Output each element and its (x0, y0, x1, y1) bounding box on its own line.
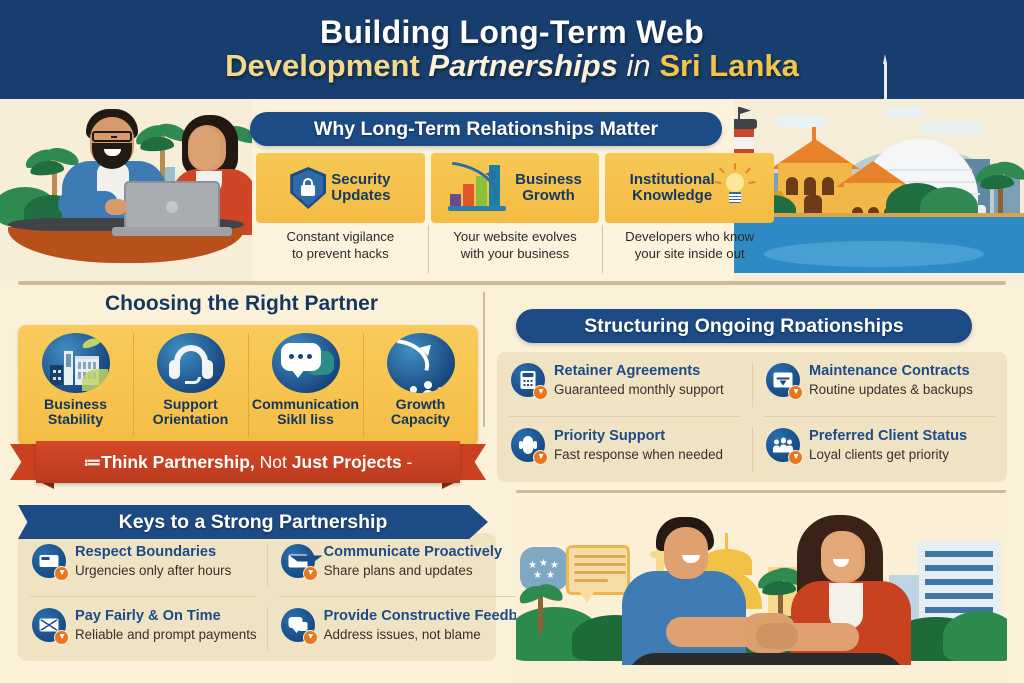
chat-icon (281, 608, 315, 642)
why-card-title-line2: Knowledge (630, 188, 715, 204)
why-card-caption-line1: Your website evolves (428, 229, 603, 246)
infographic-canvas: Building Long-Term Web Development Partn… (0, 0, 1024, 683)
keys-item-subtitle: Reliable and prompt payments (75, 627, 257, 643)
section-heading-structuring-ongoing-relationships: Structuring Ongoing Rɒationships (516, 309, 972, 343)
card-x-icon (32, 608, 66, 642)
keys-item-title: Respect Boundaries (75, 545, 231, 561)
section-heading-keys-to-strong-partnership: Keys to a Strong Partnership (18, 505, 488, 539)
choosing-item-label-line2: Stability (44, 413, 107, 428)
why-card-caption-line2: your site inside out (602, 246, 777, 263)
why-card-caption-line1: Constant vigilance (253, 229, 428, 246)
keys-item-title: Pay Fairly & On Time (75, 609, 257, 625)
choosing-item-label-line2: Sikll liss (252, 413, 359, 428)
buildings-icon (42, 333, 110, 393)
headset-icon (511, 428, 545, 462)
structuring-item-title: Retainer Agreements (554, 364, 724, 380)
ribbon-word-partnership: Partnership, (153, 452, 255, 473)
why-card-institutional-knowledge: Institutional Knowledge Developers w (602, 153, 777, 277)
why-card-caption-line2: with your business (428, 246, 603, 263)
calculator-icon (511, 363, 545, 397)
why-card-title-line1: Business (515, 172, 582, 188)
business-handshake-illustration: ★ ★ ★ ★ ★ (516, 497, 1007, 683)
choosing-item-communication-skills: Communication Sikll liss (248, 325, 363, 447)
why-card-security-updates: Security Updates Constant vigilance to p… (253, 153, 428, 277)
shield-lock-icon (290, 167, 326, 209)
choosing-item-growth-capacity: Growth Capacity (363, 325, 478, 447)
choosing-partner-panel: Business Stability Support Orientation (18, 325, 478, 447)
structuring-item-title: Priority Support (554, 429, 723, 445)
keys-item-pay-fairly-on-time: Pay Fairly & On Time Reliable and prompt… (18, 597, 267, 661)
hero-strip: Why Long-Term Relationships Matter Secur… (0, 99, 1024, 281)
why-cards-row: Security Updates Constant vigilance to p… (253, 153, 777, 277)
sri-lanka-landmarks-illustration (734, 99, 1024, 281)
page-title-line2: Development Partnerships in Sri Lanka (225, 49, 799, 83)
keys-item-communicate-proactively: Communicate Proactively Share plans and … (267, 533, 552, 597)
envelope-icon (281, 544, 315, 578)
ribbon-word-think: Think (101, 452, 148, 473)
developer-and-client-at-laptop-illustration (0, 99, 252, 281)
choosing-item-label-line2: Orientation (153, 413, 229, 428)
why-card-caption-line2: to prevent hacks (253, 246, 428, 263)
title-banner: Building Long-Term Web Development Partn… (0, 0, 1024, 99)
ribbon-word-just-projects: Just Projects (292, 452, 402, 473)
keys-item-subtitle: Urgencies only after hours (75, 563, 231, 579)
section-heading-choosing-right-partner: Choosing the Right Partner (105, 292, 378, 316)
keys-item-subtitle: Share plans and updates (324, 563, 502, 579)
keys-item-respect-boundaries: Respect Boundaries Urgencies only after … (18, 533, 267, 597)
why-card-title-line1: Institutional (630, 172, 715, 188)
ribbon-word-not: Not (260, 452, 287, 473)
document-bubble-icon (566, 545, 630, 595)
structuring-item-title: Preferred Client Status (809, 429, 967, 445)
keys-item-provide-constructive-feedback: Provide Constructive Feedback Address is… (267, 597, 552, 661)
keys-item-title: Provide Constructive Feedback (324, 609, 542, 625)
ribbon-suffix: - (407, 452, 413, 473)
lightbulb-icon (720, 168, 750, 208)
choosing-item-label-line1: Support (153, 398, 229, 413)
structuring-panel: Retainer Agreements Guaranteed monthly s… (497, 352, 1007, 482)
keys-item-title: Communicate Proactively (324, 545, 502, 561)
title-word-in: in (627, 48, 651, 83)
structuring-item-retainer-agreements: Retainer Agreements Guaranteed monthly s… (497, 352, 752, 417)
title-word-development: Development (225, 48, 420, 83)
choosing-item-business-stability: Business Stability (18, 325, 133, 447)
stupa-spire-decoration (884, 62, 887, 102)
divider-horizontal-right (516, 490, 1006, 493)
choosing-item-label-line1: Communication (252, 398, 359, 413)
keys-panel: Respect Boundaries Urgencies only after … (18, 533, 496, 661)
people-icon (766, 428, 800, 462)
chat-bubbles-icon (272, 333, 340, 393)
monitor-icon (766, 363, 800, 397)
page-title-line1: Building Long-Term Web (320, 16, 704, 50)
why-card-title-line2: Updates (331, 188, 390, 204)
structuring-item-title: Maintenance Contracts (809, 364, 973, 380)
structuring-item-subtitle: Fast response when needed (554, 447, 723, 463)
structuring-item-subtitle: Loyal clients get priority (809, 447, 967, 463)
think-partnership-ribbon: ≔ Think Partnership, Not Just Projects - (10, 441, 486, 483)
choosing-item-label-line1: Business (44, 398, 107, 413)
section-heading-why-long-term: Why Long-Term Relationships Matter (250, 112, 722, 146)
structuring-item-priority-support: Priority Support Fast response when need… (497, 417, 752, 482)
choosing-item-label-line2: Capacity (391, 413, 450, 428)
title-word-sri-lanka: Sri Lanka (659, 48, 799, 83)
title-word-partnerships: Partnerships (428, 48, 618, 83)
growth-people-icon (387, 333, 455, 393)
choosing-item-support-orientation: Support Orientation (133, 325, 248, 447)
why-card-title-line2: Growth (515, 188, 582, 204)
structuring-item-preferred-client-status: Preferred Client Status Loyal clients ge… (752, 417, 1007, 482)
card-icon (32, 544, 66, 578)
structuring-item-subtitle: Guaranteed monthly support (554, 382, 724, 398)
why-card-caption-line1: Developers who know (602, 229, 777, 246)
divider-vertical-middle (483, 292, 485, 427)
keys-item-subtitle: Address issues, not blame (324, 627, 542, 643)
ribbon-glyph: ≔ (84, 452, 102, 473)
choosing-item-label-line1: Growth (391, 398, 450, 413)
why-card-business-growth: Business Growth Your website evolves wit… (428, 153, 603, 277)
structuring-item-subtitle: Routine updates & backups (809, 382, 973, 398)
why-card-title-line1: Security (331, 172, 390, 188)
headset-icon (157, 333, 225, 393)
structuring-item-maintenance-contracts: Maintenance Contracts Routine updates & … (752, 352, 1007, 417)
bar-chart-growth-icon (448, 165, 510, 211)
divider-horizontal-top (18, 281, 1006, 285)
